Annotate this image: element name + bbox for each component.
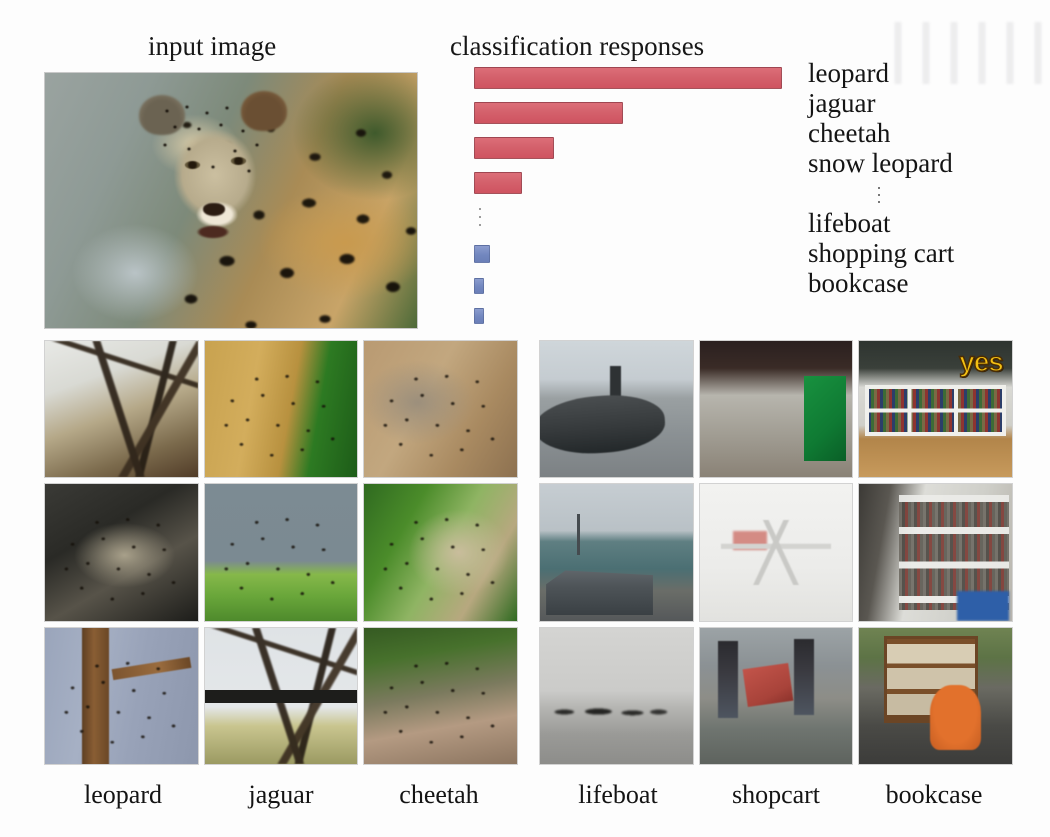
chart-ellipsis-icon (477, 207, 483, 229)
class-label-cheetah: cheetah (808, 118, 1048, 148)
thumbnail-cheetahs-on-sand (363, 340, 518, 478)
ship-mast (577, 514, 581, 555)
bar-lifeboat (474, 245, 490, 263)
left-grid-column-labels: leopard jaguar cheetah (44, 778, 518, 812)
class-label-bookcase: bookcase (808, 268, 1048, 298)
thumbnail-wreckage-near-green-container (699, 340, 854, 478)
thumbnail-black-and-white-boats-at-sea (539, 627, 694, 765)
leopard-mouth (191, 223, 235, 241)
classification-response-bar-chart (474, 65, 804, 325)
fur-spots (205, 341, 358, 477)
person-right (794, 639, 814, 715)
blue-floor-object (957, 591, 1009, 621)
yes-caption: yes (959, 346, 1003, 378)
fur-spots (205, 484, 358, 620)
person-left (718, 641, 738, 717)
fur-spots (45, 484, 198, 620)
thumbnail-leopard-in-tree (44, 340, 199, 478)
class-label-jaguar: jaguar (808, 88, 1048, 118)
class-label-shopping-cart: shopping cart (808, 238, 1048, 268)
bar-bookcase (474, 308, 484, 324)
fur-spots (364, 341, 517, 477)
person-in-orange-shirt (930, 685, 982, 750)
green-container (804, 376, 847, 461)
right-image-grid: yes (539, 340, 1013, 765)
right-grid-column-labels: lifeboat shopcart bookcase (539, 778, 1013, 812)
class-label-list: leopard jaguar cheetah snow leopard life… (808, 58, 1048, 298)
thumbnail-bookcase-with-yes-caption: yes (858, 340, 1013, 478)
column-label-cheetah: cheetah (360, 778, 518, 812)
column-label-jaguar: jaguar (202, 778, 360, 812)
thumbnail-submarine-by-wall (539, 340, 694, 478)
left-image-grid (44, 340, 518, 765)
class-label-ellipsis-icon (808, 178, 1048, 208)
class-label-lifeboat: lifeboat (808, 208, 1048, 238)
distant-boats (546, 701, 677, 723)
bar-jaguar (474, 102, 623, 124)
column-label-bookcase: bookcase (855, 778, 1013, 812)
thumbnail-cheetah-with-prey (363, 627, 518, 765)
fur-spots (364, 484, 517, 620)
dark-band (205, 690, 358, 702)
page-title-classification-responses: classification responses (450, 33, 704, 60)
tree-branches (45, 341, 198, 477)
thumbnail-cheetah-face-closeup (363, 483, 518, 621)
leopard-eye-left (185, 161, 200, 169)
thumbnail-people-with-red-shopping-cart (699, 627, 854, 765)
thumbnail-cheetah-under-bare-tree (204, 627, 359, 765)
class-label-leopard: leopard (808, 58, 1048, 88)
fur-spots (364, 628, 517, 764)
thumbnail-person-moving-wooden-bookcase (858, 627, 1013, 765)
column-label-shopcart: shopcart (697, 778, 855, 812)
bar-cheetah (474, 137, 554, 159)
bar-shopping-cart (474, 278, 484, 294)
thumbnail-library-bookshelves (858, 483, 1013, 621)
bar-leopard (474, 67, 782, 89)
thumbnail-leopard-on-trunk (44, 627, 199, 765)
bar-snow-leopard (474, 172, 522, 194)
thumbnail-cheetah-in-grass (204, 483, 359, 621)
thumbnail-naval-ship-in-harbor (539, 483, 694, 621)
fur-spots (45, 628, 198, 764)
leopard-eye-right (231, 157, 246, 165)
red-shopping-cart (743, 663, 794, 707)
column-label-lifeboat: lifeboat (539, 778, 697, 812)
leopard-face-spots (153, 99, 281, 209)
page-title-input-image: input image (148, 33, 276, 60)
class-label-snow-leopard: snow leopard (808, 148, 1048, 178)
column-label-leopard: leopard (44, 778, 202, 812)
thumbnail-jaguar-in-green-foliage (204, 340, 359, 478)
bookshelf-grid (865, 385, 1005, 437)
input-image-photo (44, 72, 418, 329)
leopard-nose (203, 203, 225, 216)
thumbnail-shopping-cart-on-white (699, 483, 854, 621)
shopping-cart-frame (721, 520, 831, 585)
thumbnail-cheetah-resting-dark (44, 483, 199, 621)
thumbnail-background (540, 628, 693, 764)
